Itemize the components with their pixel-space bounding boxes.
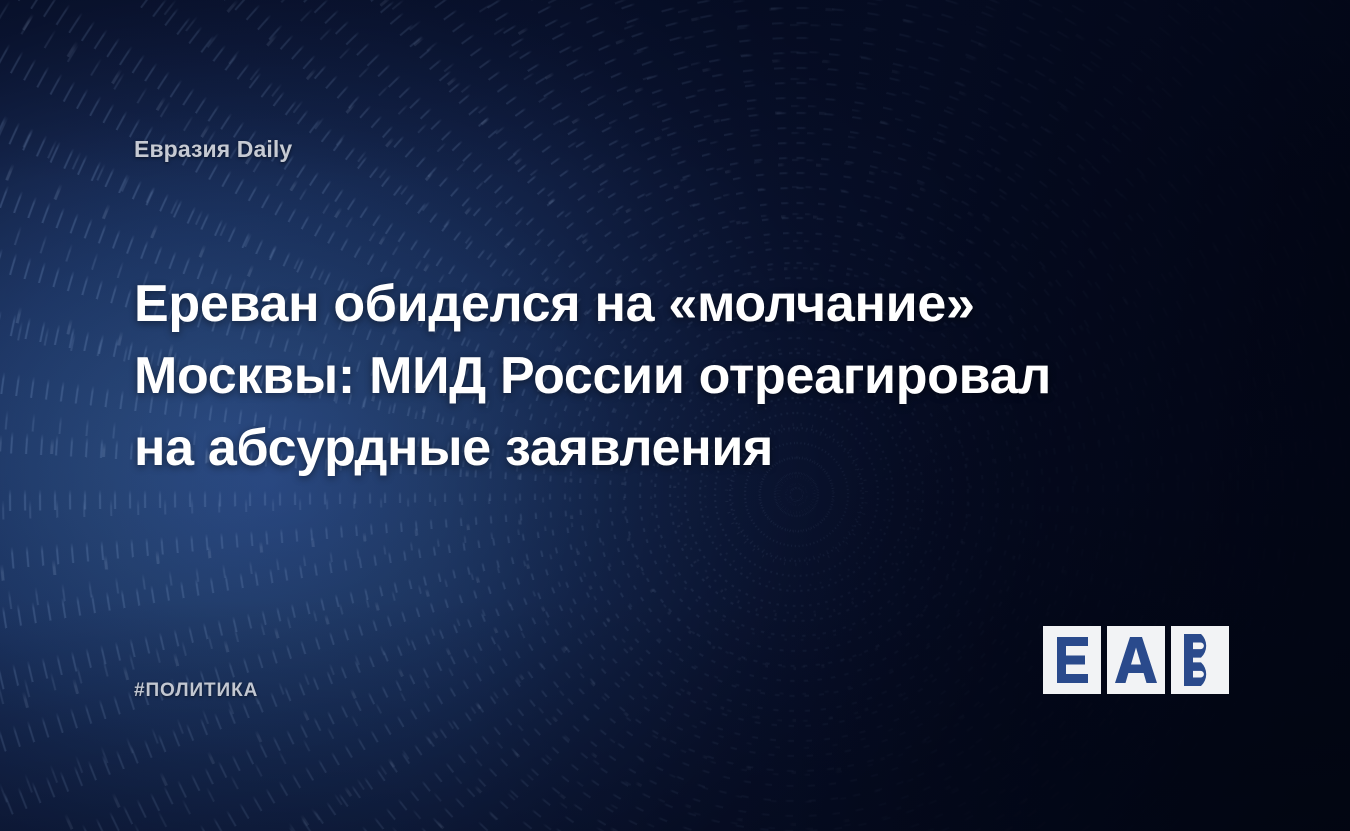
headline-line-3: на абсурдные заявления xyxy=(134,412,1144,484)
headline: Ереван обиделся на «молчание» Москвы: МИ… xyxy=(134,268,1144,484)
headline-line-2: Москвы: МИД России отреагировал xyxy=(134,340,1144,412)
logo-split-d-icon xyxy=(1171,626,1229,694)
eadaily-logo[interactable] xyxy=(1043,626,1229,694)
category-tag[interactable]: #ПОЛИТИКА xyxy=(134,680,258,702)
headline-line-1: Ереван обиделся на «молчание» xyxy=(134,268,1144,340)
brand-name: Евразия Daily xyxy=(134,136,292,163)
logo-letter-e-icon xyxy=(1043,626,1101,694)
news-share-card: Евразия Daily Ереван обиделся на «молчан… xyxy=(0,0,1350,831)
card-content: Евразия Daily Ереван обиделся на «молчан… xyxy=(0,0,1350,831)
logo-letter-a-icon xyxy=(1107,626,1165,694)
